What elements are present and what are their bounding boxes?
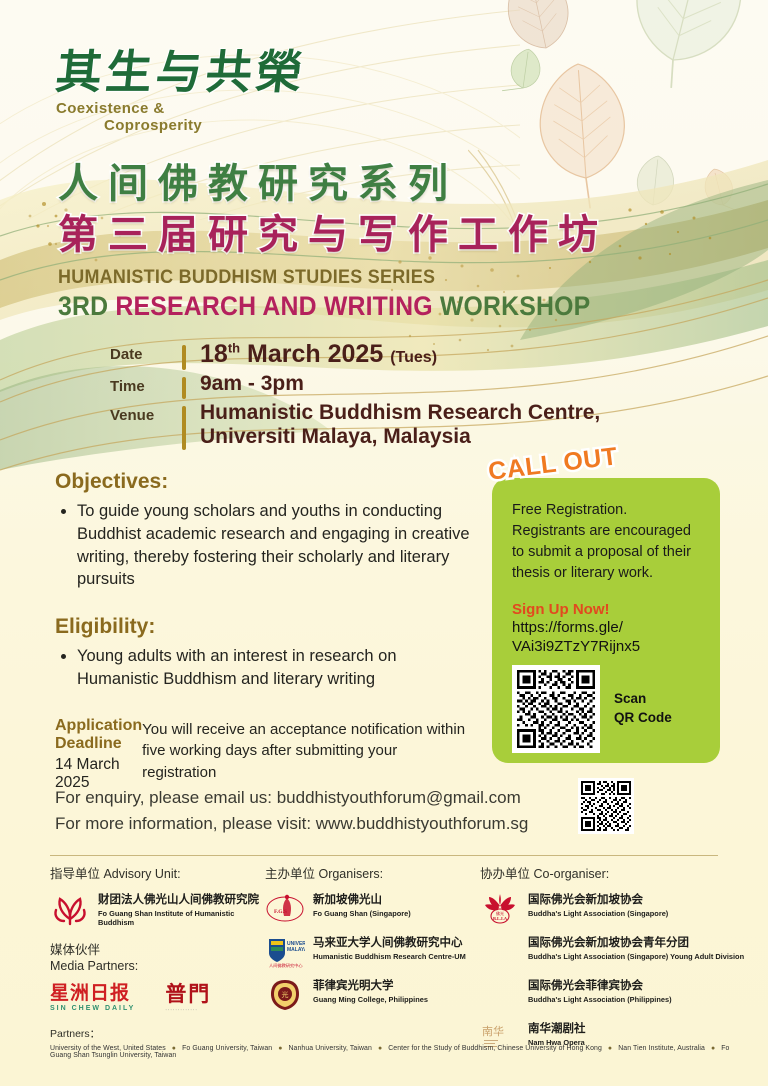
partners-block: Partners： University of the West, United… bbox=[50, 1026, 750, 1059]
org-names: 财团法人佛光山人间佛教研究院 Fo Guang Shan Institute o… bbox=[98, 892, 265, 928]
call-out-text: Free Registration. Registrants are encou… bbox=[512, 500, 700, 585]
registration-qr-code[interactable] bbox=[512, 665, 600, 753]
org-logo-placeholder bbox=[480, 935, 520, 969]
fgs-lotus-logo bbox=[50, 892, 90, 926]
partner-item: Nanhua University, Taiwan bbox=[288, 1045, 371, 1052]
deadline-title-line1: Application bbox=[55, 717, 142, 736]
application-deadline-block: Application Deadline 14 March 2025 You w… bbox=[55, 717, 475, 793]
svg-text:B.L.I.A: B.L.I.A bbox=[493, 916, 508, 921]
partner-item: University of the West, United States bbox=[50, 1045, 166, 1052]
detail-row-venue: Venue Humanistic Buddhism Research Centr… bbox=[110, 401, 600, 451]
time-value: 9am - 3pm bbox=[200, 372, 304, 397]
detail-divider-bar bbox=[182, 406, 186, 451]
media-heading-en: Media Partners: bbox=[50, 958, 265, 974]
brand-english-line2: Coprosperity bbox=[104, 117, 346, 134]
org-name-en: Buddha's Light Association (Singapore) bbox=[528, 909, 668, 919]
partner-item: Fo Guang University, Taiwan bbox=[182, 1045, 272, 1052]
org-names: 新加坡佛光山 Fo Guang Shan (Singapore) bbox=[313, 892, 411, 918]
qr-caption-line2: QR Code bbox=[614, 709, 672, 727]
qr-caption-line1: Scan bbox=[614, 690, 672, 708]
sign-up-now-label: Sign Up Now! bbox=[512, 601, 700, 618]
guang-ming-college-logo: 光 bbox=[265, 978, 305, 1012]
org-entry: 佛光 B.L.I.A 国际佛光会新加坡协会 Buddha's Light Ass… bbox=[480, 892, 750, 926]
eligibility-heading: Eligibility: bbox=[55, 615, 475, 639]
org-entry: 财团法人佛光山人间佛教研究院 Fo Guang Shan Institute o… bbox=[50, 892, 265, 928]
headline-en-part3: WORKSHOP bbox=[440, 291, 591, 321]
venue-label: Venue bbox=[110, 401, 182, 424]
event-details: Date 18th March 2025 (Tues) Time 9am - 3… bbox=[110, 340, 600, 452]
deadline-title-group: Application Deadline 14 March 2025 bbox=[55, 717, 142, 793]
brand-english-line1: Coexistence & bbox=[56, 100, 165, 117]
headline-english-main: 3RD RESEARCH AND WRITING WORKSHOP bbox=[58, 291, 628, 322]
org-name-en: Humanistic Buddhism Research Centre-UM bbox=[313, 952, 466, 962]
org-name-cn: 马来亚大学人间佛教研究中心 bbox=[313, 936, 466, 950]
enquiry-website-line[interactable]: For more information, please visit: www.… bbox=[55, 811, 528, 837]
partners-heading: Partners： bbox=[50, 1026, 750, 1041]
date-weekday: (Tues) bbox=[390, 349, 437, 366]
bullet-separator-icon: ● bbox=[711, 1045, 715, 1052]
bullet-separator-icon: ● bbox=[172, 1045, 176, 1052]
org-name-cn: 新加坡佛光山 bbox=[313, 893, 411, 907]
venue-line2: Universiti Malaya, Malaysia bbox=[200, 425, 600, 450]
eligibility-list: Young adults with an interest in researc… bbox=[59, 645, 475, 691]
time-label: Time bbox=[110, 372, 182, 395]
headline-english-subtitle: HUMANISTIC BUDDHISM STUDIES SERIES bbox=[58, 266, 628, 289]
org-entry: 光 菲律宾光明大学 Guang Ming College, Philippine… bbox=[265, 978, 480, 1012]
org-entry: F.G.S 新加坡佛光山 Fo Guang Shan (Singapore) bbox=[265, 892, 480, 926]
pu-men-logo: 普門 ············· bbox=[165, 984, 211, 1013]
date-value: 18th March 2025 (Tues) bbox=[200, 340, 437, 370]
svg-text:MALAYA: MALAYA bbox=[287, 947, 305, 953]
org-name-cn: 菲律宾光明大学 bbox=[313, 979, 428, 993]
venue-line1: Humanistic Buddhism Research Centre, bbox=[200, 401, 600, 426]
org-name-en: Buddha's Light Association (Singapore) Y… bbox=[528, 952, 744, 962]
media-heading-cn: 媒体伙伴 bbox=[50, 942, 265, 958]
svg-text:光: 光 bbox=[282, 990, 289, 999]
org-entry: 国际佛光会菲律宾协会 Buddha's Light Association (P… bbox=[480, 978, 750, 1012]
media-logos-row: 星洲日报 SIN CHEW DAILY 普門 ············· bbox=[50, 984, 265, 1013]
org-name-en: Guang Ming College, Philippines bbox=[313, 995, 428, 1005]
org-name-cn: 国际佛光会新加坡协会 bbox=[528, 893, 668, 907]
enquiry-email-line[interactable]: For enquiry, please email us: buddhistyo… bbox=[55, 785, 528, 811]
bla-lotus-icon: 佛光 B.L.I.A bbox=[480, 892, 520, 926]
poster-root: 其生与共榮 Coexistence & Coprosperity 人间佛教研究系… bbox=[0, 0, 768, 1086]
partner-item: Nan Tien Institute, Australia bbox=[618, 1045, 705, 1052]
um-crest-icon: UNIVERSITI MALAYA 人间佛教研究中心 bbox=[265, 935, 305, 969]
qr-caption: Scan QR Code bbox=[614, 690, 672, 726]
enquiry-block: For enquiry, please email us: buddhistyo… bbox=[55, 785, 528, 837]
date-day: 18 bbox=[200, 340, 228, 368]
org-entry: UNIVERSITI MALAYA 人间佛教研究中心 马来亚大学人间佛教研究中心… bbox=[265, 935, 480, 969]
sin-chew-daily-logo: 星洲日报 SIN CHEW DAILY bbox=[50, 984, 135, 1012]
brand-chinese-title: 其生与共榮 bbox=[54, 50, 349, 96]
sin-chew-en: SIN CHEW DAILY bbox=[50, 1005, 135, 1012]
pu-men-en: ············· bbox=[165, 1008, 211, 1013]
call-out-box: Free Registration. Registrants are encou… bbox=[492, 478, 720, 763]
org-name-en: Fo Guang Shan (Singapore) bbox=[313, 909, 411, 919]
qr-code-icon bbox=[517, 670, 595, 748]
org-name-cn: 国际佛光会菲律宾协会 bbox=[528, 979, 672, 993]
partner-item: Center for the Study of Buddhism, Chines… bbox=[388, 1045, 602, 1052]
org-names: 国际佛光会新加坡协会 Buddha's Light Association (S… bbox=[528, 892, 668, 918]
website-qr-code[interactable] bbox=[578, 778, 634, 834]
guang-ming-crest-icon: 光 bbox=[265, 978, 305, 1012]
footer-divider bbox=[50, 855, 718, 856]
spacer bbox=[55, 593, 475, 615]
pu-men-cn: 普門 bbox=[165, 982, 211, 1006]
fgs-emblem-icon: F.G.S bbox=[265, 892, 305, 926]
sin-chew-cn: 星洲日报 bbox=[50, 983, 130, 1004]
org-name-en: Buddha's Light Association (Philippines) bbox=[528, 995, 672, 1005]
detail-divider-bar bbox=[182, 345, 186, 370]
universiti-malaya-logo: UNIVERSITI MALAYA 人间佛教研究中心 bbox=[265, 935, 305, 969]
org-logo-placeholder bbox=[480, 978, 520, 1012]
deadline-title-line2: Deadline bbox=[55, 735, 142, 754]
coorganiser-heading: 协办单位 Co-organiser: bbox=[480, 866, 750, 882]
lotus-icon bbox=[50, 892, 90, 926]
org-name-cn: 财团法人佛光山人间佛教研究院 bbox=[98, 893, 265, 907]
brand-logo: 其生与共榮 Coexistence & Coprosperity bbox=[56, 50, 346, 135]
brand-english-title: Coexistence & Coprosperity bbox=[56, 100, 346, 135]
detail-row-time: Time 9am - 3pm bbox=[110, 372, 600, 399]
list-item: To guide young scholars and youths in co… bbox=[77, 500, 475, 591]
date-label: Date bbox=[110, 340, 182, 363]
date-ordinal: th bbox=[228, 341, 240, 356]
org-name-cn: 国际佛光会新加坡协会青年分团 bbox=[528, 936, 744, 950]
headline-en-part2: RESEARCH AND WRITING bbox=[115, 291, 439, 321]
headline-en-part1: 3RD bbox=[58, 291, 115, 321]
bla-lotus-logo: 佛光 B.L.I.A bbox=[480, 892, 520, 926]
qr-code-icon bbox=[581, 781, 631, 831]
org-names: 菲律宾光明大学 Guang Ming College, Philippines bbox=[313, 978, 428, 1004]
date-rest: March 2025 bbox=[247, 340, 383, 368]
org-names: 国际佛光会新加坡协会青年分团 Buddha's Light Associatio… bbox=[528, 935, 744, 961]
deadline-note: You will receive an acceptance notificat… bbox=[142, 717, 475, 793]
headline-chinese-line1: 人间佛教研究系列 bbox=[58, 160, 678, 207]
list-item: Young adults with an interest in researc… bbox=[77, 645, 475, 691]
qr-group: Scan QR Code bbox=[512, 665, 700, 753]
headline-block: 人间佛教研究系列 第三届研究与写作工作坊 HUMANISTIC BUDDHISM… bbox=[58, 160, 678, 322]
bullet-separator-icon: ● bbox=[378, 1045, 382, 1052]
media-partners-heading: 媒体伙伴 Media Partners: bbox=[50, 942, 265, 974]
objectives-list: To guide young scholars and youths in co… bbox=[59, 500, 475, 591]
bullet-separator-icon: ● bbox=[278, 1045, 282, 1052]
org-entry: 国际佛光会新加坡协会青年分团 Buddha's Light Associatio… bbox=[480, 935, 750, 969]
organisers-heading: 主办单位 Organisers: bbox=[265, 866, 480, 882]
partners-list: University of the West, United States●Fo… bbox=[50, 1045, 750, 1059]
registration-url-line1[interactable]: https://forms.gle/ bbox=[512, 618, 700, 638]
org-names: 国际佛光会菲律宾协会 Buddha's Light Association (P… bbox=[528, 978, 672, 1004]
registration-url-line2[interactable]: VAi3i9ZTzY7Rijnx5 bbox=[512, 637, 700, 657]
venue-value: Humanistic Buddhism Research Centre, Uni… bbox=[200, 401, 600, 451]
org-names: 马来亚大学人间佛教研究中心 Humanistic Buddhism Resear… bbox=[313, 935, 466, 961]
svg-text:人间佛教研究中心: 人间佛教研究中心 bbox=[269, 962, 303, 969]
detail-divider-bar bbox=[182, 377, 186, 399]
svg-text:F.G.S: F.G.S bbox=[274, 909, 287, 915]
objectives-heading: Objectives: bbox=[55, 470, 475, 494]
bullet-separator-icon: ● bbox=[608, 1045, 612, 1052]
fgs-singapore-logo: F.G.S bbox=[265, 892, 305, 926]
org-name-en: Fo Guang Shan Institute of Humanistic Bu… bbox=[98, 909, 265, 928]
advisory-heading: 指导单位 Advisory Unit: bbox=[50, 866, 265, 882]
detail-row-date: Date 18th March 2025 (Tues) bbox=[110, 340, 600, 370]
body-content: Objectives: To guide young scholars and … bbox=[55, 470, 475, 792]
headline-chinese-line2: 第三届研究与写作工作坊 bbox=[58, 211, 678, 258]
